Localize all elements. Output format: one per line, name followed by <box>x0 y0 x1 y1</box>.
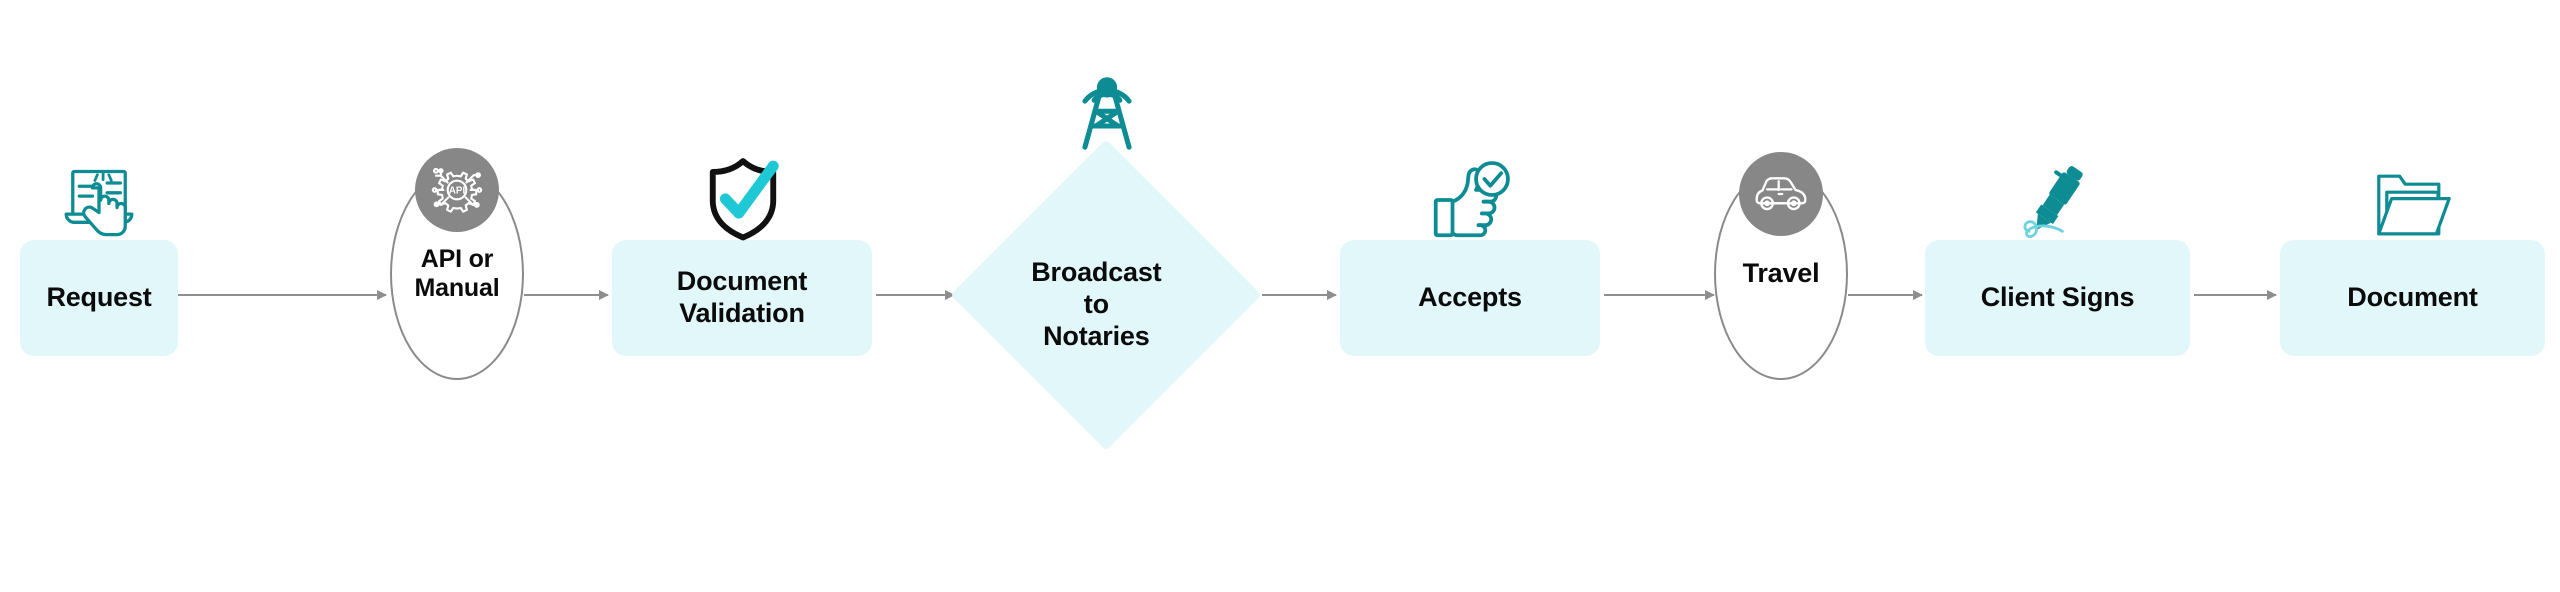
node-accepts-label: Accepts <box>1418 282 1522 314</box>
connector-broadcast-to-accepts <box>1262 294 1336 296</box>
broadcast-tower-icon <box>1061 54 1153 152</box>
node-travel-label: Travel <box>1743 258 1820 290</box>
node-request[interactable]: Request <box>20 240 178 356</box>
icon-slot-broadcast <box>1060 52 1154 152</box>
hand-pointing-document-icon <box>58 160 140 242</box>
workflow-diagram: Request API or Manual <box>0 0 2560 592</box>
arrowhead-icon <box>599 290 609 300</box>
icon-slot-client-signs <box>2012 150 2100 244</box>
icon-slot-document-validation <box>700 148 786 242</box>
node-document-validation-label: Document Validation <box>677 266 807 330</box>
connector-api-to-validation <box>524 294 608 296</box>
node-travel[interactable]: Travel <box>1714 168 1848 380</box>
node-broadcast-to-notaries[interactable]: Broadcast to Notaries <box>950 139 1261 450</box>
arrowhead-icon <box>377 290 387 300</box>
connector-travel-to-client-signs <box>1848 294 1922 296</box>
arrowhead-icon <box>1327 290 1337 300</box>
connector-validation-to-broadcast <box>876 294 954 296</box>
node-document-label: Document <box>2347 282 2477 314</box>
thumbs-up-check-icon <box>1429 158 1513 242</box>
icon-slot-accepts <box>1428 150 1514 242</box>
node-api-or-manual-label: API or Manual <box>415 245 500 304</box>
node-document-validation[interactable]: Document Validation <box>612 240 872 356</box>
node-client-signs-label: Client Signs <box>1981 282 2135 314</box>
node-document[interactable]: Document <box>2280 240 2545 356</box>
connector-request-to-api <box>178 294 386 296</box>
arrowhead-icon <box>2267 290 2277 300</box>
node-api-or-manual[interactable]: API or Manual <box>390 168 524 380</box>
node-accepts[interactable]: Accepts <box>1340 240 1600 356</box>
pen-signature-icon <box>2016 158 2096 244</box>
node-client-signs[interactable]: Client Signs <box>1925 240 2190 356</box>
connector-accepts-to-travel <box>1604 294 1714 296</box>
node-broadcast-to-notaries-label: Broadcast to Notaries <box>1031 257 1161 353</box>
connector-client-signs-to-document <box>2194 294 2276 296</box>
node-request-label: Request <box>46 282 151 314</box>
icon-slot-request <box>55 150 143 242</box>
shield-check-icon <box>701 154 785 242</box>
arrowhead-icon <box>1705 290 1715 300</box>
arrowhead-icon <box>1913 290 1923 300</box>
open-folder-icon <box>2374 168 2454 242</box>
icon-slot-document <box>2372 158 2456 242</box>
